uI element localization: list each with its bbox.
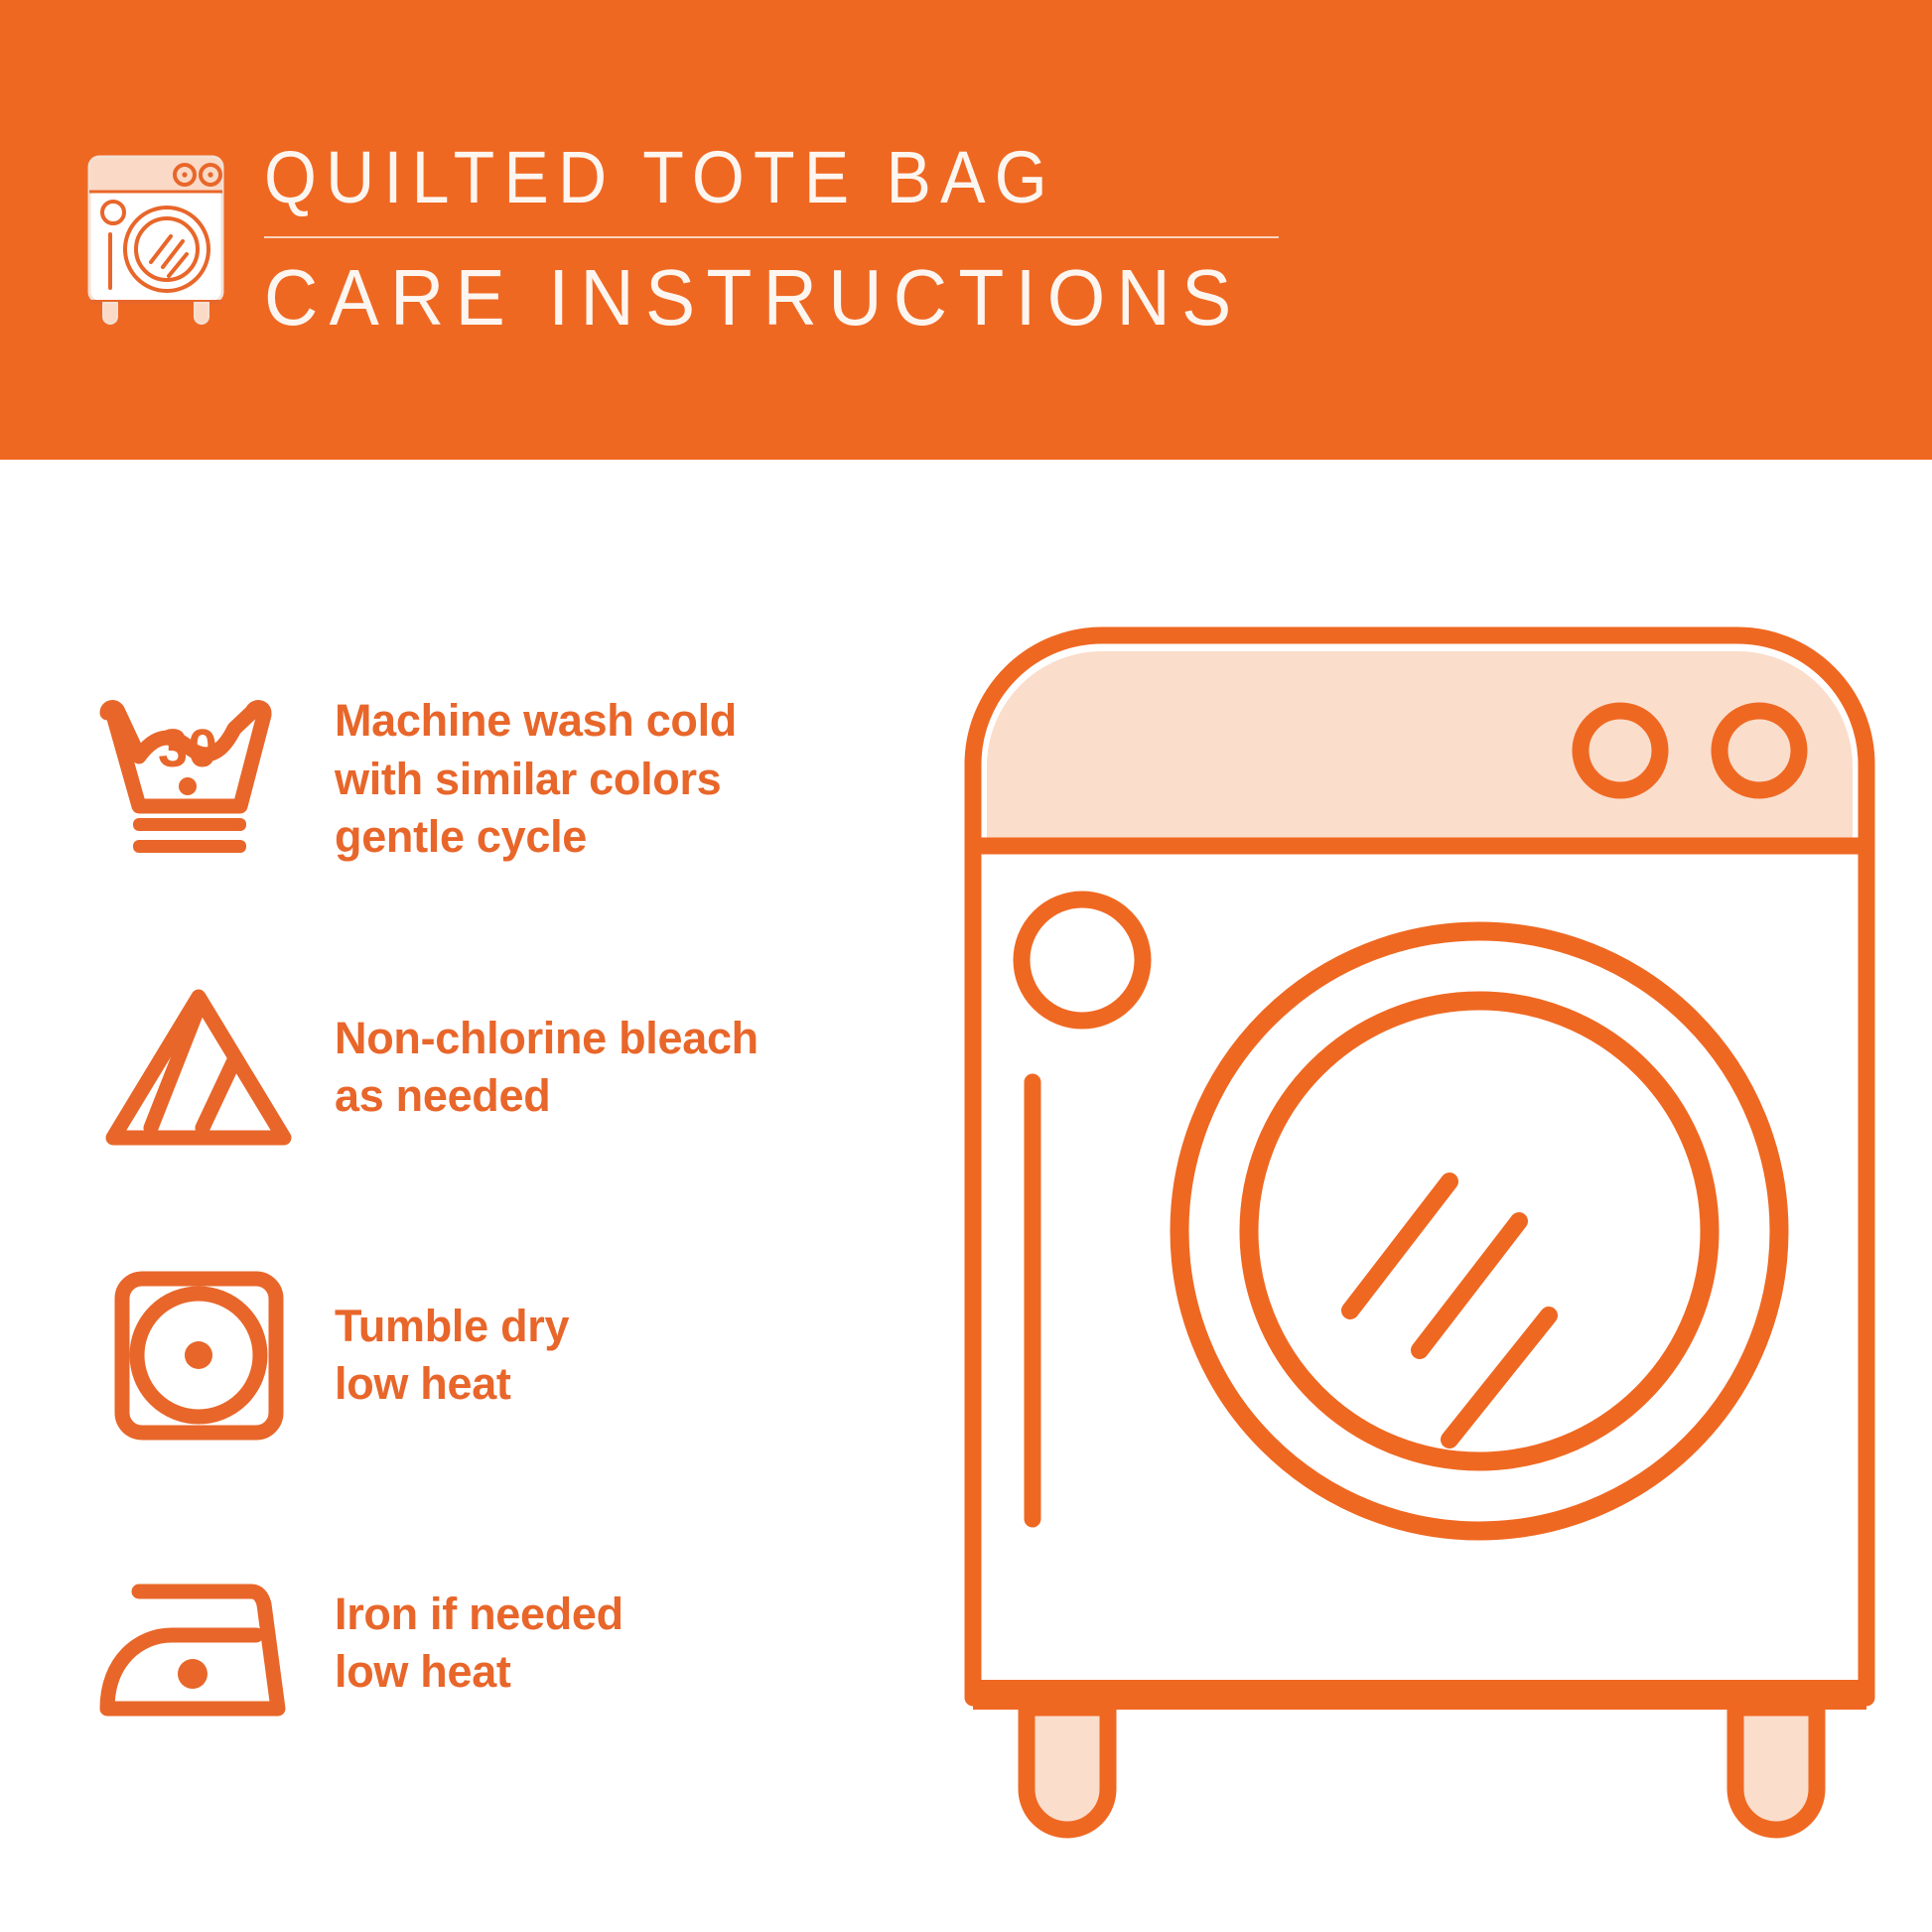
care-text-line: gentle cycle [335, 808, 737, 867]
care-item-iron: Iron if needed low heat [0, 1499, 953, 1787]
header-content: QUILTED TOTE BAG CARE INSTRUCTIONS [77, 137, 1306, 338]
wash-tub-30-gentle-icon: 30 [84, 695, 313, 864]
care-text-line: low heat [335, 1643, 623, 1702]
header-banner: QUILTED TOTE BAG CARE INSTRUCTIONS [0, 0, 1932, 460]
care-text-line: Iron if needed [335, 1586, 623, 1644]
care-item-text: Iron if needed low heat [335, 1586, 623, 1702]
header-title-block: QUILTED TOTE BAG CARE INSTRUCTIONS [264, 137, 1306, 338]
non-chlorine-bleach-triangle-icon [84, 983, 313, 1152]
care-item-text: Non-chlorine bleach as needed [335, 1010, 759, 1126]
leg-right [1735, 1708, 1817, 1830]
knob-right[interactable] [1720, 711, 1799, 790]
gentle-cycle-dot [179, 777, 197, 795]
large-washing-machine-illustration [953, 616, 1886, 1876]
care-text-line: low heat [335, 1355, 569, 1414]
page-subtitle: CARE INSTRUCTIONS [264, 258, 1243, 338]
tumble-dry-low-heat-icon [84, 1269, 313, 1443]
care-text-line: Non-chlorine bleach [335, 1010, 759, 1068]
care-text-line: Machine wash cold [335, 692, 737, 751]
care-text-line: Tumble dry [335, 1298, 569, 1356]
iron-low-heat-icon [84, 1562, 313, 1725]
care-text-line: as needed [335, 1067, 759, 1126]
wash-temperature-label: 30 [157, 719, 216, 778]
care-item-text: Machine wash cold with similar colors ge… [335, 692, 737, 867]
care-item-text: Tumble dry low heat [335, 1298, 569, 1414]
knob-left[interactable] [1581, 711, 1660, 790]
washing-machine-icon [77, 137, 234, 326]
care-item-tumble-dry: Tumble dry low heat [0, 1211, 953, 1499]
low-heat-dot [185, 1341, 212, 1369]
care-instruction-list: 30 Machine wash cold with similar colors… [0, 635, 953, 1787]
care-item-machine-wash: 30 Machine wash cold with similar colors… [0, 635, 953, 923]
care-text-line: with similar colors [335, 751, 737, 809]
title-divider [264, 236, 1279, 238]
leg-left [1027, 1708, 1108, 1830]
care-item-bleach: Non-chlorine bleach as needed [0, 923, 953, 1211]
low-heat-dot [178, 1659, 207, 1689]
care-instructions-infographic: QUILTED TOTE BAG CARE INSTRUCTIONS 30 [0, 0, 1932, 1932]
gentle-bar-1 [133, 818, 246, 831]
page-title: QUILTED TOTE BAG [264, 141, 1222, 214]
gentle-bar-2 [133, 840, 246, 853]
